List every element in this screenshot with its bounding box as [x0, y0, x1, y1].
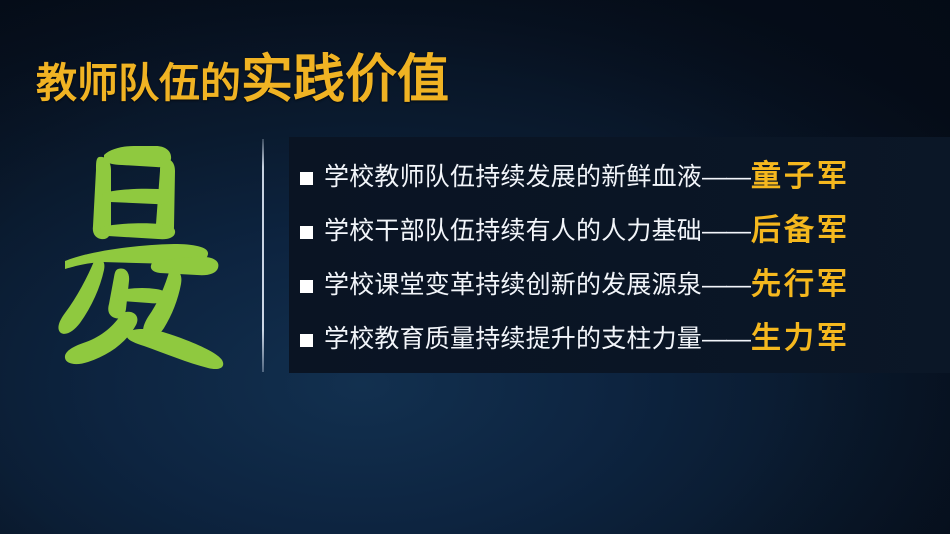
presentation-slide: 教师队伍的实践价值 — [0, 0, 950, 534]
bullet-dash: —— — [702, 219, 750, 244]
square-bullet-icon — [300, 280, 313, 293]
bullet-list: 学校教师队伍持续发展的新鲜血液 —— 童子军 学校干部队伍持续有人的人力基础 —… — [289, 137, 950, 373]
vertical-divider-line — [262, 139, 264, 372]
bullet-highlight-term: 生力军 — [751, 324, 850, 354]
list-item: 学校课堂变革持续创新的发展源泉 —— 先行军 — [300, 260, 950, 310]
square-bullet-icon — [300, 226, 313, 239]
list-item: 学校干部队伍持续有人的人力基础 —— 后备军 — [300, 206, 950, 256]
brush-calligraphy-shi-icon — [52, 143, 248, 371]
bullet-highlight-term: 童子军 — [751, 162, 850, 192]
slide-title: 教师队伍的实践价值 — [36, 54, 449, 106]
title-lead-text: 教师队伍的 — [36, 60, 241, 106]
square-bullet-icon — [300, 334, 313, 347]
bullet-body-text: 学校教育质量持续提升的支柱力量 — [324, 327, 702, 352]
bullet-dash: —— — [702, 273, 750, 298]
list-item: 学校教师队伍持续发展的新鲜血液 —— 童子军 — [300, 152, 950, 202]
bullet-highlight-term: 先行军 — [751, 270, 850, 300]
bullet-dash: —— — [702, 165, 750, 190]
bullet-dash: —— — [702, 327, 750, 352]
bullet-body-text: 学校干部队伍持续有人的人力基础 — [324, 219, 702, 244]
list-item: 学校教育质量持续提升的支柱力量 —— 生力军 — [300, 314, 950, 364]
bullet-highlight-term: 后备军 — [751, 216, 850, 246]
title-emphasis-text: 实践价值 — [241, 51, 449, 109]
bullet-body-text: 学校教师队伍持续发展的新鲜血液 — [324, 165, 702, 190]
content-panel: 学校教师队伍持续发展的新鲜血液 —— 童子军 学校干部队伍持续有人的人力基础 —… — [289, 137, 950, 373]
square-bullet-icon — [300, 172, 313, 185]
bullet-body-text: 学校课堂变革持续创新的发展源泉 — [324, 273, 702, 298]
